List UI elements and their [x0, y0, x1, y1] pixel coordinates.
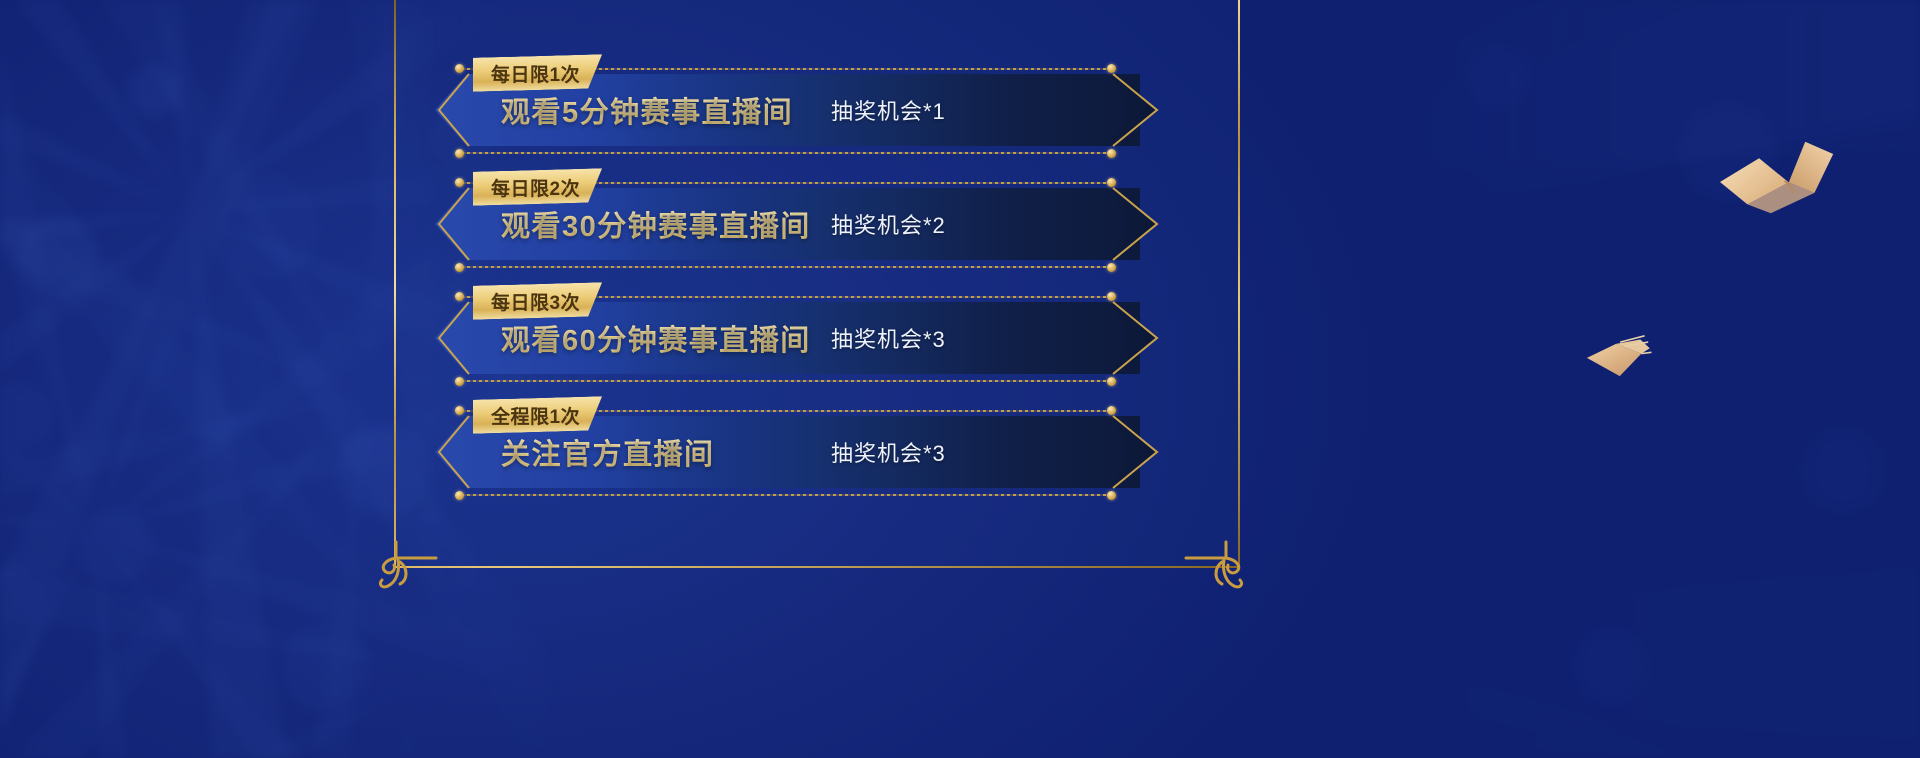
task-title: 观看60分钟赛事直播间	[501, 302, 811, 374]
rule-dot-icon	[455, 377, 464, 386]
task-reward: 抽奖机会*2	[831, 188, 946, 260]
task-banner-bottom-rule	[461, 380, 1113, 382]
rule-dot-icon	[1107, 377, 1116, 386]
task-reward: 抽奖机会*3	[831, 416, 946, 488]
task-title: 观看30分钟赛事直播间	[501, 188, 811, 260]
task-banner-bottom-rule	[461, 152, 1113, 154]
flying-book-small-icon	[1581, 328, 1655, 389]
task-row[interactable]: 每日限2次 观看30分钟赛事直播间 抽奖机会*2	[435, 188, 1140, 284]
rule-dot-icon	[1107, 149, 1116, 158]
rule-dot-icon	[455, 178, 464, 187]
task-banner-bottom-rule	[461, 494, 1113, 496]
rule-dot-icon	[455, 491, 464, 500]
frame-corner-ornament-bottom-right	[1184, 538, 1248, 592]
task-row[interactable]: 每日限1次 观看5分钟赛事直播间 抽奖机会*1	[435, 74, 1140, 170]
task-reward: 抽奖机会*1	[831, 74, 946, 146]
task-title: 关注官方直播间	[501, 416, 715, 488]
rule-dot-icon	[1107, 178, 1116, 187]
rule-dot-icon	[1107, 292, 1116, 301]
rule-dot-icon	[1107, 491, 1116, 500]
task-title: 观看5分钟赛事直播间	[501, 74, 793, 146]
rule-dot-icon	[455, 149, 464, 158]
frame-corner-ornament-bottom-left	[374, 538, 438, 592]
rule-dot-icon	[455, 292, 464, 301]
task-reward: 抽奖机会*3	[831, 302, 946, 374]
rule-dot-icon	[1107, 64, 1116, 73]
rule-dot-icon	[455, 406, 464, 415]
rule-dot-icon	[455, 263, 464, 272]
task-row[interactable]: 每日限3次 观看60分钟赛事直播间 抽奖机会*3	[435, 302, 1140, 398]
rule-dot-icon	[455, 64, 464, 73]
rule-dot-icon	[1107, 406, 1116, 415]
task-row[interactable]: 全程限1次 关注官方直播间 抽奖机会*3	[435, 416, 1140, 512]
rule-dot-icon	[1107, 263, 1116, 272]
task-banner-bottom-rule	[461, 266, 1113, 268]
